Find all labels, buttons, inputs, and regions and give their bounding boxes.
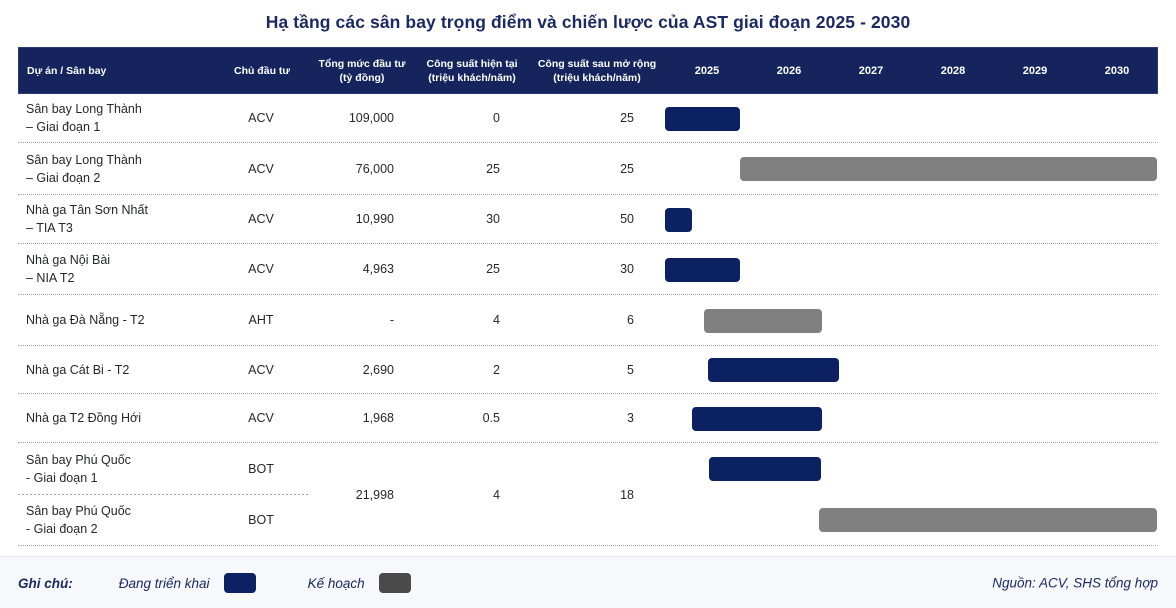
gantt-bar-in-progress [665, 208, 692, 232]
cell-expanded-capacity: 30 [526, 244, 666, 294]
cell-current-capacity: 4 [416, 295, 526, 345]
project-name-line2: - Giai đoạn 2 [26, 520, 131, 538]
cell-project-name: Sân bay Phú Quốc- Giai đoạn 1 [26, 443, 226, 494]
cell-project-name: Nhà ga Nội Bài– NIA T2 [26, 244, 226, 294]
project-name-line1: Nhà ga Tân Sơn Nhất [26, 201, 148, 219]
legend-swatch-in-progress [224, 573, 256, 593]
column-header-year-2029: 2029 [994, 48, 1076, 95]
gantt-bar-in-progress [665, 107, 740, 131]
project-name-line2: – Giai đoạn 1 [26, 118, 142, 136]
legend-swatch-planned [379, 573, 411, 593]
column-header-year-2028: 2028 [912, 48, 994, 95]
project-name-line1: Nhà ga Cát Bi - T2 [26, 360, 129, 378]
column-header-year-2027: 2027 [830, 48, 912, 95]
column-header-year-2025: 2025 [666, 48, 748, 95]
cell-investor: ACV [216, 143, 306, 194]
column-header-investor-label: Chủ đầu tư [234, 65, 290, 78]
cell-expanded-capacity: 5 [526, 346, 666, 393]
gantt-table: Dự án / Sân bay Chủ đầu tư Tổng mức đầu … [18, 47, 1158, 542]
legend-item-label: Đang triển khai [119, 576, 210, 591]
cell-current-capacity: 25 [416, 143, 526, 194]
legend-bar: Ghi chú: Đang triển khaiKế hoạch Nguồn: … [0, 556, 1176, 608]
gantt-bar-in-progress [692, 407, 822, 431]
project-name-line1: Nhà ga Nội Bài [26, 251, 110, 269]
project-name-line1: Sân bay Long Thành [26, 100, 142, 118]
cell-total-investment: 76,000 [306, 143, 416, 194]
column-header-year-2030: 2030 [1076, 48, 1158, 95]
gantt-bar-planned [704, 309, 822, 333]
cell-expanded-capacity: 25 [526, 143, 666, 194]
cell-current-capacity-merged: 4 [416, 443, 526, 546]
project-name-line2: – TIA T3 [26, 219, 148, 237]
cell-total-investment: - [306, 295, 416, 345]
column-header-expanded-capacity-line2: (triệu khách/năm) [538, 72, 656, 85]
cell-current-capacity: 2 [416, 346, 526, 393]
column-header-expanded-capacity: Công suất sau mở rộng (triệu khách/năm) [527, 48, 667, 95]
cell-expanded-capacity: 6 [526, 295, 666, 345]
column-header-expanded-capacity-line1: Công suất sau mở rộng [538, 58, 656, 71]
table-header-row: Dự án / Sân bay Chủ đầu tư Tổng mức đầu … [18, 47, 1158, 94]
column-header-total-investment-line1: Tổng mức đầu tư [319, 58, 406, 71]
cell-expanded-capacity: 3 [526, 394, 666, 442]
cell-investor: ACV [216, 244, 306, 294]
column-header-total-investment-line2: (tỷ đồng) [319, 72, 406, 85]
gantt-bar-planned [819, 508, 1157, 532]
project-name-line1: Nhà ga T2 Đồng Hới [26, 409, 141, 427]
column-header-current-capacity: Công suất hiện tại (triệu khách/năm) [417, 48, 527, 95]
cell-investor: AHT [216, 295, 306, 345]
chart-page: Hạ tầng các sân bay trọng điểm và chiến … [0, 0, 1176, 608]
cell-project-name: Nhà ga Đà Nẵng - T2 [26, 295, 226, 345]
cell-total-investment-merged: 21,998 [306, 443, 416, 546]
project-name-line1: Sân bay Phú Quốc [26, 501, 131, 519]
column-header-investor: Chủ đầu tư [217, 48, 307, 95]
gantt-bar-in-progress [709, 457, 821, 481]
project-name-line1: Sân bay Long Thành [26, 150, 142, 168]
project-name-line1: Sân bay Phú Quốc [26, 450, 131, 468]
gantt-bar-planned [740, 157, 1157, 181]
source-note: Nguồn: ACV, SHS tổng hợp [992, 575, 1158, 590]
legend-items: Đang triển khaiKế hoạch [119, 573, 463, 593]
cell-project-name: Nhà ga Cát Bi - T2 [26, 346, 226, 393]
gantt-bar-in-progress [665, 258, 740, 282]
cell-investor: ACV [216, 346, 306, 393]
cell-expanded-capacity-merged: 18 [526, 443, 666, 546]
gantt-bar-in-progress [708, 358, 839, 382]
cell-expanded-capacity: 50 [526, 195, 666, 243]
column-header-current-capacity-line2: (triệu khách/năm) [426, 72, 517, 85]
column-header-project-label: Dự án / Sân bay [27, 65, 106, 78]
project-name-line1: Nhà ga Đà Nẵng - T2 [26, 311, 145, 329]
cell-current-capacity: 0.5 [416, 394, 526, 442]
project-name-line2: - Giai đoạn 1 [26, 469, 131, 487]
legend-item-label: Kế hoạch [308, 576, 365, 591]
cell-total-investment: 1,968 [306, 394, 416, 442]
cell-total-investment: 4,963 [306, 244, 416, 294]
column-header-project: Dự án / Sân bay [27, 48, 217, 95]
cell-total-investment: 10,990 [306, 195, 416, 243]
cell-project-name: Sân bay Phú Quốc- Giai đoạn 2 [26, 494, 226, 545]
cell-investor: BOT [216, 443, 306, 494]
column-header-year-2026: 2026 [748, 48, 830, 95]
cell-investor: ACV [216, 94, 306, 142]
cell-current-capacity: 25 [416, 244, 526, 294]
cell-investor: BOT [216, 494, 306, 545]
column-header-total-investment: Tổng mức đầu tư (tỷ đồng) [307, 48, 417, 95]
cell-project-name: Sân bay Long Thành– Giai đoạn 2 [26, 143, 226, 194]
cell-investor: ACV [216, 394, 306, 442]
cell-total-investment: 109,000 [306, 94, 416, 142]
cell-current-capacity: 30 [416, 195, 526, 243]
cell-project-name: Nhà ga T2 Đồng Hới [26, 394, 226, 442]
legend-item: Kế hoạch [308, 573, 411, 593]
cell-total-investment: 2,690 [306, 346, 416, 393]
legend-title: Ghi chú: [18, 576, 73, 591]
cell-project-name: Nhà ga Tân Sơn Nhất– TIA T3 [26, 195, 226, 243]
cell-expanded-capacity: 25 [526, 94, 666, 142]
legend-item: Đang triển khai [119, 573, 256, 593]
page-title: Hạ tầng các sân bay trọng điểm và chiến … [0, 12, 1176, 33]
project-name-line2: – NIA T2 [26, 269, 110, 287]
project-name-line2: – Giai đoạn 2 [26, 169, 142, 187]
cell-current-capacity: 0 [416, 94, 526, 142]
gantt-bars-area [665, 94, 1158, 542]
cell-project-name: Sân bay Long Thành– Giai đoạn 1 [26, 94, 226, 142]
cell-investor: ACV [216, 195, 306, 243]
column-header-current-capacity-line1: Công suất hiện tại [426, 58, 517, 71]
